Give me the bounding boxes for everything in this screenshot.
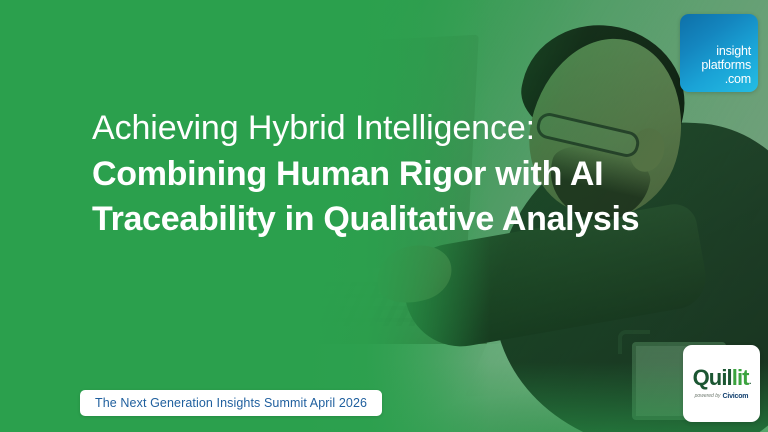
headline-eyebrow: Achieving Hybrid Intelligence: bbox=[92, 108, 692, 148]
quillit-wordmark: Quil lit . bbox=[693, 367, 751, 389]
quillit-powered-by: powered by Civicom bbox=[695, 393, 749, 400]
quillit-word-part-1: Quil bbox=[693, 367, 732, 389]
quillit-word-part-2: lit bbox=[732, 367, 749, 389]
quillit-powered-by-label: powered by bbox=[695, 394, 721, 399]
insight-platforms-line-1: insight bbox=[701, 44, 751, 58]
presentation-slide: Achieving Hybrid Intelligence: Combining… bbox=[0, 0, 768, 432]
page-title: Combining Human Rigor with AI Traceabili… bbox=[92, 152, 672, 242]
event-badge-label: The Next Generation Insights Summit Apri… bbox=[95, 396, 367, 410]
insight-platforms-line-3: .com bbox=[701, 72, 751, 86]
insight-platforms-logo[interactable]: insight platforms .com bbox=[680, 14, 758, 92]
insight-platforms-line-2: platforms bbox=[701, 58, 751, 72]
headline-block: Achieving Hybrid Intelligence: Combining… bbox=[92, 108, 692, 242]
event-badge: The Next Generation Insights Summit Apri… bbox=[80, 390, 382, 416]
quillit-logo[interactable]: Quil lit . powered by Civicom bbox=[683, 345, 760, 422]
civicom-wordmark: Civicom bbox=[723, 393, 749, 400]
insight-platforms-logo-text: insight platforms .com bbox=[701, 44, 751, 86]
quillit-trademark-mark: . bbox=[749, 378, 750, 389]
